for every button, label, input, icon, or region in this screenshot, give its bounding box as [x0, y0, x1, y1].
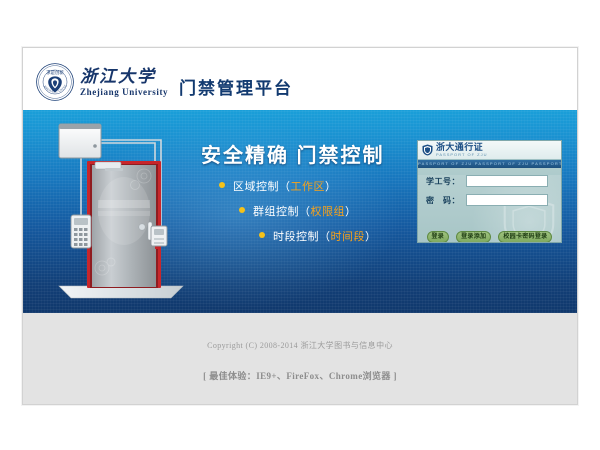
site-container: 求是创新 ZHEJIANG UNIVERSITY 浙江大学 Zhejiang U…	[22, 47, 578, 405]
feature-label: 区域控制（	[233, 181, 291, 193]
browser-recommendation-text: [ 最佳体验：IE9+、FireFox、Chrome浏览器 ]	[23, 369, 577, 382]
username-label: 学工号：	[426, 176, 466, 187]
page-title: 门禁管理平台	[179, 74, 293, 99]
university-name-cn: 浙江大学	[80, 68, 168, 85]
login-title-group: 浙大通行证 PASSPORT OF ZJU	[436, 143, 487, 157]
site-footer: Copyright (C) 2008-2014 浙江大学图书与信息中心 [ 最佳…	[23, 313, 577, 404]
access-control-door-illustration	[43, 116, 203, 308]
campus-card-login-button[interactable]: 校园卡密码登录	[498, 231, 552, 243]
site-header: 求是创新 ZHEJIANG UNIVERSITY 浙江大学 Zhejiang U…	[23, 48, 577, 110]
university-name-en: Zhejiang University	[80, 88, 168, 97]
feature-highlight: 时间段	[331, 231, 366, 243]
copyright-text: Copyright (C) 2008-2014 浙江大学图书与信息中心	[23, 340, 577, 351]
login-add-button[interactable]: 登录添加	[456, 231, 491, 243]
hero-banner: 安全精确 门禁控制 区域控制（工作区） 群组控制（权限组） 时段控制（时间段）	[23, 110, 577, 313]
bullet-icon	[239, 207, 245, 213]
bullet-icon	[219, 182, 225, 188]
feature-highlight: 权限组	[311, 206, 346, 218]
login-form: 学工号： 密 码： 登录 登录添加 校园卡密码登录	[418, 175, 561, 243]
login-title-cn: 浙大通行证	[436, 143, 487, 152]
login-panel: 浙大通行证 PASSPORT OF ZJU PASSPORT OF ZJU PA…	[417, 140, 562, 243]
page-root: 求是创新 ZHEJIANG UNIVERSITY 浙江大学 Zhejiang U…	[0, 0, 600, 450]
login-panel-header: 浙大通行证 PASSPORT OF ZJU	[418, 141, 561, 160]
login-title-en: PASSPORT OF ZJU	[436, 153, 487, 157]
list-item: 群组控制（权限组）	[239, 203, 377, 219]
shield-icon	[422, 144, 433, 156]
username-input[interactable]	[466, 175, 548, 187]
login-button-row: 登录 登录添加 校园卡密码登录	[418, 231, 561, 243]
username-row: 学工号：	[418, 175, 561, 187]
password-label: 密 码：	[426, 195, 466, 206]
feature-tail: ）	[325, 181, 337, 193]
list-item: 时段控制（时间段）	[259, 228, 377, 244]
banner-feature-list: 区域控制（工作区） 群组控制（权限组） 时段控制（时间段）	[219, 178, 377, 253]
list-item: 区域控制（工作区）	[219, 178, 377, 194]
password-row: 密 码：	[418, 194, 561, 206]
banner-slogan: 安全精确 门禁控制	[201, 139, 385, 168]
university-names: 浙江大学 Zhejiang University	[80, 68, 168, 97]
zju-seal-icon: 求是创新 ZHEJIANG UNIVERSITY	[35, 62, 75, 102]
bullet-icon	[259, 232, 265, 238]
feature-tail: ）	[365, 231, 377, 243]
feature-highlight: 工作区	[291, 181, 326, 193]
login-button[interactable]: 登录	[427, 231, 450, 243]
passport-watermark-strip: PASSPORT OF ZJU PASSPORT OF ZJU PASSPORT…	[418, 160, 561, 168]
svg-text:求是创新: 求是创新	[46, 69, 64, 76]
brand-logo-block[interactable]: 求是创新 ZHEJIANG UNIVERSITY 浙江大学 Zhejiang U…	[35, 62, 168, 102]
password-input[interactable]	[466, 194, 548, 206]
feature-label: 时段控制（	[273, 231, 331, 243]
feature-label: 群组控制（	[253, 206, 311, 218]
feature-tail: ）	[345, 206, 357, 218]
